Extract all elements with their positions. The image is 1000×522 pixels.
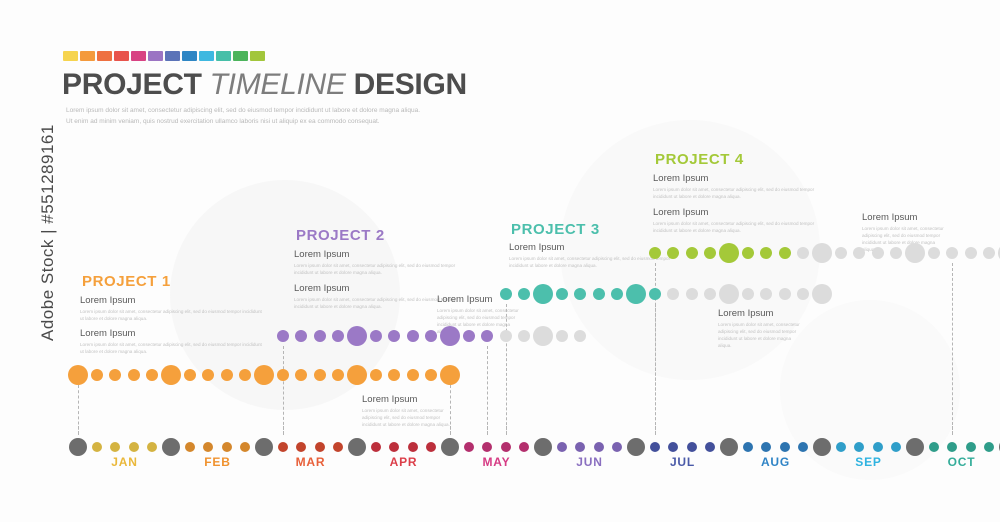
color-swatch-0: [63, 51, 78, 61]
project-3-dot[interactable]: [611, 288, 623, 300]
axis-month-marker-sep[interactable]: [813, 438, 831, 456]
project-4-note: Lorem IpsumLorem ipsum dolor sit amet, c…: [653, 207, 823, 234]
axis-week-dot[interactable]: [836, 442, 846, 452]
axis-week-dot[interactable]: [984, 442, 994, 452]
project-4-bar[interactable]: [0, 242, 1000, 264]
project-2-dot[interactable]: [481, 330, 493, 342]
project-4-dot[interactable]: [704, 247, 716, 259]
project-1-dot[interactable]: [332, 369, 344, 381]
axis-week-dot[interactable]: [929, 442, 939, 452]
project-2-dot-inactive[interactable]: [556, 330, 568, 342]
month-label-oct[interactable]: OCT: [948, 455, 976, 469]
title-part-project: PROJECT: [62, 68, 210, 101]
axis-week-dot[interactable]: [92, 442, 102, 452]
project-2-dot-inactive[interactable]: [518, 330, 530, 342]
axis-tick: [283, 426, 284, 434]
project-4-dot-inactive[interactable]: [872, 247, 884, 259]
project-2-dot[interactable]: [332, 330, 344, 342]
project-1-dot[interactable]: [254, 365, 274, 385]
project-1-note-body: Lorem ipsum dolor sit amet, consectetur …: [80, 308, 265, 322]
subtitle-line-2: Ut enim ad minim veniam, quis nostrud ex…: [66, 116, 456, 127]
axis-week-dot[interactable]: [761, 442, 771, 452]
axis-week-dot[interactable]: [482, 442, 492, 452]
axis-tick: [450, 426, 451, 434]
color-swatch-10: [233, 51, 248, 61]
color-swatch-6: [165, 51, 180, 61]
axis-week-dot[interactable]: [203, 442, 213, 452]
project-1-dot[interactable]: [239, 369, 251, 381]
project-2-dot[interactable]: [425, 330, 437, 342]
axis-week-dot[interactable]: [705, 442, 715, 452]
axis-week-dot[interactable]: [389, 442, 399, 452]
axis-week-dot[interactable]: [575, 442, 585, 452]
project-4-note-body: Lorem ipsum dolor sit amet, consectetur …: [653, 186, 823, 200]
project-1-dot[interactable]: [146, 369, 158, 381]
project-4-dot-inactive[interactable]: [890, 247, 902, 259]
axis-week-dot[interactable]: [464, 442, 474, 452]
axis-tick: [506, 426, 507, 434]
project-4-side-note-heading: Lorem Ipsum: [862, 212, 948, 223]
project-3-bar[interactable]: [0, 283, 1000, 305]
infographic-canvas: Adobe Stock | #551289161 PROJECT TIMELIN…: [0, 0, 1000, 522]
axis-month-marker-feb[interactable]: [162, 438, 180, 456]
axis-week-dot[interactable]: [371, 442, 381, 452]
project-3-dot-inactive[interactable]: [686, 288, 698, 300]
project-1-dot[interactable]: [347, 365, 367, 385]
project-1-dot[interactable]: [440, 365, 460, 385]
color-swatch-8: [199, 51, 214, 61]
color-swatch-11: [250, 51, 265, 61]
project-4-title: PROJECT 4: [655, 151, 744, 168]
project-4-note-body: Lorem ipsum dolor sit amet, consectetur …: [653, 220, 823, 234]
month-label-may[interactable]: MAY: [483, 455, 511, 469]
project-3-title: PROJECT 3: [511, 221, 600, 238]
axis-week-dot[interactable]: [650, 442, 660, 452]
project-2-note-body: Lorem ipsum dolor sit amet, consectetur …: [294, 262, 474, 276]
project-4-dot-inactive[interactable]: [812, 243, 832, 263]
project-1-dot[interactable]: [184, 369, 196, 381]
project-2-dot[interactable]: [440, 326, 460, 346]
color-swatch-2: [97, 51, 112, 61]
project-3-side-note: Lorem IpsumLorem ipsum dolor sit amet, c…: [718, 308, 804, 349]
axis-week-dot[interactable]: [296, 442, 306, 452]
project-1-dot[interactable]: [277, 369, 289, 381]
axis-week-dot[interactable]: [408, 442, 418, 452]
axis-month-marker-jul[interactable]: [627, 438, 645, 456]
page-title: PROJECT TIMELINE DESIGN: [62, 68, 467, 102]
axis-week-dot[interactable]: [129, 442, 139, 452]
project-2-dot[interactable]: [370, 330, 382, 342]
axis-week-dot[interactable]: [426, 442, 436, 452]
axis-month-marker-may[interactable]: [441, 438, 459, 456]
axis-week-dot[interactable]: [222, 442, 232, 452]
month-label-jun[interactable]: JUN: [576, 455, 602, 469]
axis-week-dot[interactable]: [798, 442, 808, 452]
project-3-dot[interactable]: [626, 284, 646, 304]
project-3-side-note-heading: Lorem Ipsum: [718, 308, 804, 319]
project-2-dot[interactable]: [314, 330, 326, 342]
project-1-side-note-heading: Lorem Ipsum: [362, 394, 452, 405]
project-4-dot-inactive[interactable]: [965, 247, 977, 259]
subtitle-line-1: Lorem ipsum dolor sit amet, consectetur …: [66, 105, 456, 116]
axis-month-marker-mar[interactable]: [255, 438, 273, 456]
color-swatch-9: [216, 51, 231, 61]
axis-tick: [952, 426, 953, 434]
project-1-dot[interactable]: [109, 369, 121, 381]
project-1-dot[interactable]: [388, 369, 400, 381]
month-label-aug[interactable]: AUG: [761, 455, 790, 469]
project-1-dot[interactable]: [295, 369, 307, 381]
project-4-dot-inactive[interactable]: [928, 247, 940, 259]
project-3-dot-inactive[interactable]: [797, 288, 809, 300]
project-4-dot[interactable]: [686, 247, 698, 259]
axis-month-marker-oct[interactable]: [906, 438, 924, 456]
color-swatch-7: [182, 51, 197, 61]
project-3-dot-inactive[interactable]: [719, 284, 739, 304]
project-4-dot-inactive[interactable]: [983, 247, 995, 259]
project-3-dot-inactive[interactable]: [812, 284, 832, 304]
project-4-dot-inactive[interactable]: [905, 243, 925, 263]
project-3-dot[interactable]: [649, 288, 661, 300]
project-2-connector: [487, 346, 488, 435]
color-swatch-4: [131, 51, 146, 61]
month-label-jan[interactable]: JAN: [111, 455, 137, 469]
project-3-dot[interactable]: [574, 288, 586, 300]
color-swatch-5: [148, 51, 163, 61]
project-2-dot-inactive[interactable]: [500, 330, 512, 342]
project-1-dot[interactable]: [202, 369, 214, 381]
project-4-dot[interactable]: [742, 247, 754, 259]
project-1-dot[interactable]: [91, 369, 103, 381]
month-label-jul[interactable]: JUL: [670, 455, 695, 469]
axis-week-dot[interactable]: [333, 442, 343, 452]
project-2-connector: [283, 346, 284, 435]
project-2-dot[interactable]: [463, 330, 475, 342]
axis-tick: [78, 426, 79, 434]
axis-month-marker-jan[interactable]: [69, 438, 87, 456]
project-2-dot[interactable]: [277, 330, 289, 342]
axis-week-dot[interactable]: [780, 442, 790, 452]
project-3-dot-inactive[interactable]: [760, 288, 772, 300]
project-4-dot[interactable]: [719, 243, 739, 263]
project-1-dot[interactable]: [128, 369, 140, 381]
project-2-bar[interactable]: [0, 325, 1000, 347]
project-1-dot[interactable]: [425, 369, 437, 381]
project-4-note-heading: Lorem Ipsum: [653, 207, 823, 218]
project-1-bar[interactable]: [0, 364, 1000, 386]
title-part-timeline: TIMELINE: [210, 68, 346, 101]
axis-week-dot[interactable]: [501, 442, 511, 452]
project-1-side-note: Lorem IpsumLorem ipsum dolor sit amet, c…: [362, 394, 452, 428]
project-4-note-heading: Lorem Ipsum: [653, 173, 823, 184]
axis-week-dot[interactable]: [891, 442, 901, 452]
project-4-note: Lorem IpsumLorem ipsum dolor sit amet, c…: [653, 173, 823, 200]
axis-week-dot[interactable]: [873, 442, 883, 452]
project-1-dot[interactable]: [370, 369, 382, 381]
month-label-feb[interactable]: FEB: [204, 455, 230, 469]
project-3-dot[interactable]: [556, 288, 568, 300]
project-1-dot[interactable]: [407, 369, 419, 381]
color-swatch-3: [114, 51, 129, 61]
project-4-dot-inactive[interactable]: [835, 247, 847, 259]
project-2-dot-inactive[interactable]: [574, 330, 586, 342]
project-2-dot[interactable]: [407, 330, 419, 342]
color-swatch-1: [80, 51, 95, 61]
axis-week-dot[interactable]: [315, 442, 325, 452]
project-4-dot[interactable]: [779, 247, 791, 259]
axis-week-dot[interactable]: [947, 442, 957, 452]
axis-tick: [655, 426, 656, 434]
project-1-dot[interactable]: [314, 369, 326, 381]
project-3-dot[interactable]: [593, 288, 605, 300]
month-label-sep[interactable]: SEP: [855, 455, 881, 469]
axis-tick: [487, 426, 488, 434]
project-1-side-note-body: Lorem ipsum dolor sit amet, consectetur …: [362, 407, 452, 428]
project-3-dot[interactable]: [518, 288, 530, 300]
project-3-side-note-body: Lorem ipsum dolor sit amet, consectetur …: [718, 321, 804, 349]
project-2-dot-inactive[interactable]: [533, 326, 553, 346]
project-3-dot-inactive[interactable]: [742, 288, 754, 300]
project-4-dot[interactable]: [760, 247, 772, 259]
project-3-dot[interactable]: [500, 288, 512, 300]
project-3-dot[interactable]: [533, 284, 553, 304]
project-2-dot[interactable]: [347, 326, 367, 346]
project-4-dot[interactable]: [667, 247, 679, 259]
project-1-dot[interactable]: [161, 365, 181, 385]
month-label-apr[interactable]: APR: [390, 455, 418, 469]
axis-week-dot[interactable]: [612, 442, 622, 452]
axis-week-dot[interactable]: [185, 442, 195, 452]
project-4-dot-inactive[interactable]: [797, 247, 809, 259]
axis-week-dot[interactable]: [743, 442, 753, 452]
project-4-dot-inactive[interactable]: [946, 247, 958, 259]
axis-week-dot[interactable]: [557, 442, 567, 452]
axis-week-dot[interactable]: [519, 442, 529, 452]
project-2-dot[interactable]: [295, 330, 307, 342]
title-part-design: DESIGN: [346, 68, 467, 101]
project-1-dot[interactable]: [221, 369, 233, 381]
axis-week-dot[interactable]: [966, 442, 976, 452]
axis-week-dot[interactable]: [687, 442, 697, 452]
axis-week-dot[interactable]: [147, 442, 157, 452]
axis-week-dot[interactable]: [594, 442, 604, 452]
axis-week-dot[interactable]: [110, 442, 120, 452]
axis-month-marker-apr[interactable]: [348, 438, 366, 456]
axis-week-dot[interactable]: [240, 442, 250, 452]
page-subtitle: Lorem ipsum dolor sit amet, consectetur …: [66, 105, 456, 127]
axis-week-dot[interactable]: [668, 442, 678, 452]
axis-week-dot[interactable]: [854, 442, 864, 452]
project-3-dot-inactive[interactable]: [704, 288, 716, 300]
color-swatch-strip: [63, 51, 265, 61]
axis-month-marker-aug[interactable]: [720, 438, 738, 456]
axis-week-dot[interactable]: [278, 442, 288, 452]
project-4-dot[interactable]: [649, 247, 661, 259]
project-3-dot-inactive[interactable]: [667, 288, 679, 300]
axis-month-marker-jun[interactable]: [534, 438, 552, 456]
project-1-dot[interactable]: [68, 365, 88, 385]
project-3-dot-inactive[interactable]: [779, 288, 791, 300]
project-4-dot-inactive[interactable]: [853, 247, 865, 259]
project-2-dot[interactable]: [388, 330, 400, 342]
month-label-mar[interactable]: MAR: [296, 455, 326, 469]
